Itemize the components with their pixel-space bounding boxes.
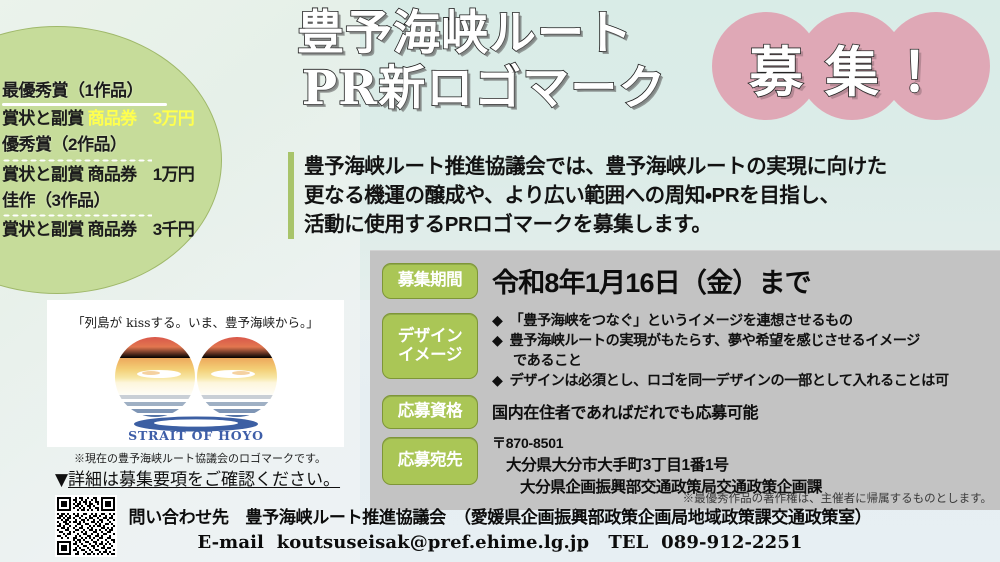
prize-award-prefix: 賞状と副賞 [2,220,84,239]
intro-line-2: 更なる機運の醸成や、より広い範囲への周知・PRを目指し、 [304,181,994,210]
info-panel: 募集期間 令和8年1月16日（金）まで デザイン イメージ ◆ 「豊予海峡をつな… [370,250,1000,510]
poster-canvas: 最優秀賞（1作品） 賞状と副賞 商品券 3万円 優秀賞（2作品） 賞状と副賞 商… [0,0,1000,562]
recruit-char-3: ！ [901,28,955,107]
poster-title: 豊予海峡ルート PR新ロゴマーク [185,6,745,117]
diamond-icon: ◆ [492,331,502,351]
logo-caption: ※現在の豊予海峡ルート協議会のロゴマークです。 [50,450,350,466]
prize-rank-label: 佳作（3作品） [2,190,232,211]
label-text: 応募宛先 [398,451,462,470]
prize-divider-dotted [2,159,152,162]
footer-contact: 問い合わせ先 豊予海峡ルート推進協議会 （愛媛県企画振興部政策企画局地域政策課交… [0,505,1000,555]
current-logo-card: 「列島が kissする。いま、豊予海峡から。」 [47,300,344,447]
label-text: 募集期間 [398,271,462,290]
value-eligibility: 国内在住者であればだれでも応募可能 [492,399,758,423]
prize-award-value: 商品券 1万円 [88,165,195,184]
tel-label: TEL [608,532,648,553]
diamond-icon: ◆ [492,371,502,391]
tel-number: 089-912-2251 [661,532,802,553]
logo-wordmark: STRAIT OF HOYO [128,428,264,442]
eligibility-text: 国内在住者であればだれでも応募可能 [492,399,758,423]
intro-line-1: 豊予海峡ルート推進協議会では、豊予海峡ルートの実現に向けた [304,152,994,181]
prize-award-line: 賞状と副賞 商品券 1万円 [2,164,232,186]
prize-award-line: 賞状と副賞 商品券 3千円 [2,219,232,241]
details-cta: ▼詳細は募集要項をご確認ください。 [40,465,355,490]
label-submission-address: 応募宛先 [382,437,478,485]
design-bullet: ◆ デザインは必須とし、ロゴを同一デザインの一部として入れることは可 [492,371,992,391]
recruit-char-1: 募 [749,28,803,107]
title-line-1: 豊予海峡ルート [185,6,745,61]
prize-award-value: 商品券 3千円 [88,220,195,239]
email-address[interactable]: koutsuseisak@pref.ehime.lg.jp [277,532,590,553]
design-bullet: ◆ 豊予海峡ルートの実現がもたらす、夢や希望を感じさせるイメージ [492,331,992,351]
hoyo-strait-logo-icon: STRAIT OF HOYO [47,330,344,442]
label-design-image: デザイン イメージ [382,313,478,379]
label-eligibility: 応募資格 [382,395,478,429]
logo-slogan: 「列島が kissする。いま、豊予海峡から。」 [47,312,344,331]
prize-item-excellence: 優秀賞（2作品） 賞状と副賞 商品券 1万円 [2,134,232,185]
value-design-image: ◆ 「豊予海峡をつなぐ」というイメージを連想させるもの ◆ 豊予海峡ルートの実現… [492,311,992,392]
label-text-line2: イメージ [398,346,462,365]
prize-rank-label: 優秀賞（2作品） [2,134,232,155]
label-application-period: 募集期間 [382,263,478,299]
postal-code: 〒870-8501 [492,433,822,453]
contact-organization: 問い合わせ先 豊予海峡ルート推進協議会 （愛媛県企画振興部政策企画局地域政策課交… [0,505,1000,531]
intro-paragraph: 豊予海峡ルート推進協議会では、豊予海峡ルートの実現に向けた 更なる機運の醸成や、… [288,152,994,239]
prize-divider-dotted [2,214,152,217]
design-bullet: ◆ 「豊予海峡をつなぐ」というイメージを連想させるもの [492,311,992,331]
design-bullet-text: であること [513,351,582,371]
prize-divider-solid [2,103,167,106]
details-cta-text: 詳細は募集要項をご確認ください。 [68,470,340,490]
recruit-badge: 募 集 ！ [712,8,992,126]
design-bullet-text: 豊予海峡ルートの実現がもたらす、夢や希望を感じさせるイメージ [509,331,919,351]
recruit-char-2: 集 [825,28,879,107]
title-line-2: PR新ロゴマーク [223,61,745,116]
label-text-line1: デザイン [398,327,462,346]
design-bullet-text: 「豊予海峡をつなぐ」というイメージを連想させるもの [509,311,852,331]
contact-email-tel: E-mail koutsuseisak@pref.ehime.lg.jp TEL… [0,531,1000,555]
label-text: 応募資格 [398,402,462,421]
value-application-period: 令和8年1月16日（金）まで [492,261,811,300]
prize-award-value: 商品券 3万円 [88,109,195,128]
value-submission-address: 〒870-8501 大分県大分市大手町3丁目1番1号 大分県企画振興部交通政策局… [492,433,822,497]
prize-item-honorable: 佳作（3作品） 賞状と副賞 商品券 3千円 [2,190,232,241]
intro-line-3: 活動に使用するPRロゴマークを募集します。 [304,210,994,239]
design-bullet-continuation: であること [492,351,992,371]
prize-award-prefix: 賞状と副賞 [2,165,84,184]
diamond-icon: ◆ [492,311,502,331]
recruit-badge-text: 募 集 ！ [712,8,992,126]
design-bullet-text: デザインは必須とし、ロゴを同一デザインの一部として入れることは可 [509,371,948,391]
triangle-down-icon: ▼ [55,470,68,490]
address-street: 大分県大分市大手町3丁目1番1号 [506,453,822,475]
prize-award-prefix: 賞状と副賞 [2,109,84,128]
deadline-date: 令和8年1月16日（金）まで [492,261,811,300]
email-label: E-mail [197,532,264,553]
copyright-note: ※最優秀作品の著作権は、主催者に帰属するものとします。 [683,490,992,506]
